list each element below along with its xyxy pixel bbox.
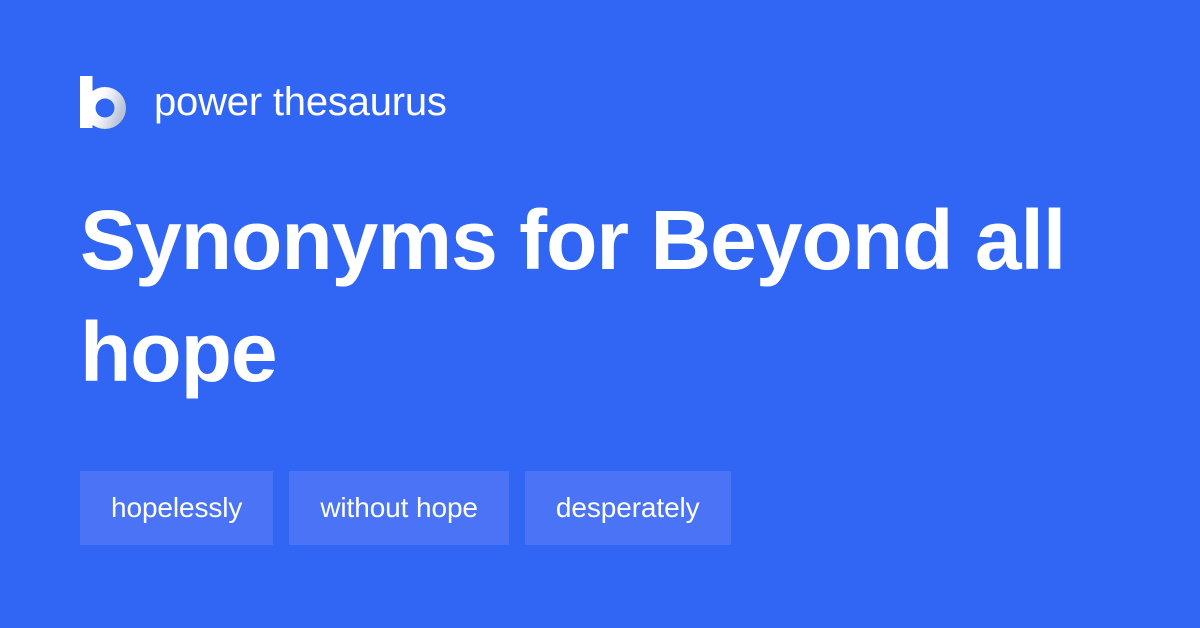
synonym-chip[interactable]: hopelessly [80, 471, 273, 545]
synonym-chip[interactable]: without hope [289, 471, 509, 545]
power-thesaurus-logo-icon [80, 74, 130, 130]
brand-lockup[interactable]: power thesaurus [80, 72, 447, 132]
synonym-chip-list: hopelessly without hope desperately [80, 471, 731, 545]
page-title: Synonyms for Beyond all hope [80, 184, 1090, 408]
synonym-chip[interactable]: desperately [525, 471, 731, 545]
brand-name: power thesaurus [154, 82, 447, 122]
share-card: power thesaurus Synonyms for Beyond all … [0, 0, 1200, 628]
